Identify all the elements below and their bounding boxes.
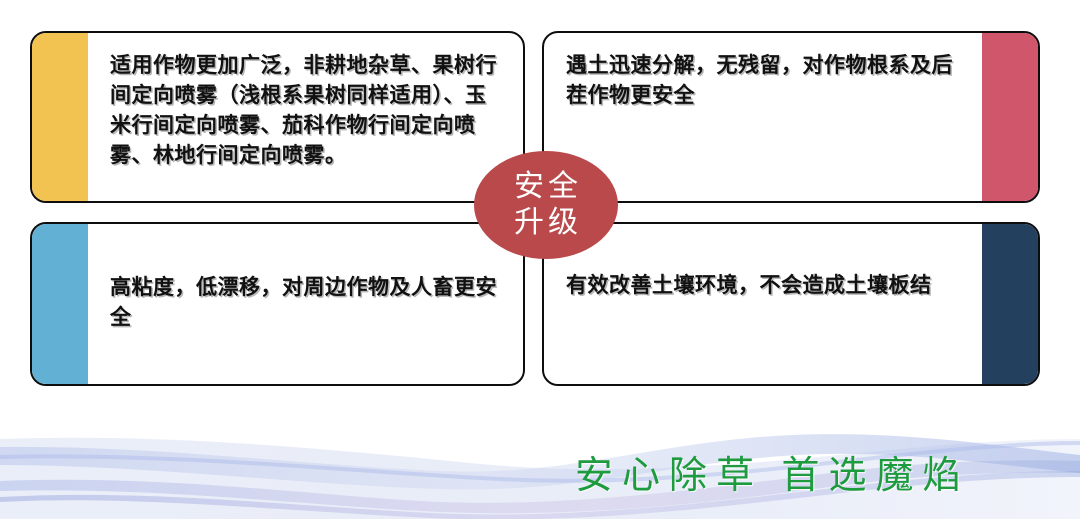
slide-canvas: 适用作物更加广泛，非耕地杂草、果树行间定向喷雾（浅根系果树同样适用）、玉米行间定… <box>0 0 1080 519</box>
card-text-top-left: 适用作物更加广泛，非耕地杂草、果树行间定向喷雾（浅根系果树同样适用）、玉米行间定… <box>88 33 523 170</box>
feature-card-bottom-left[interactable]: 高粘度，低漂移，对周边作物及人畜更安全 <box>30 222 525 386</box>
card-text-bottom-left: 高粘度，低漂移，对周边作物及人畜更安全 <box>88 224 523 332</box>
card-accent-bar-red <box>982 33 1038 201</box>
card-accent-bar-navy <box>982 224 1038 384</box>
card-accent-bar-blue <box>32 224 88 384</box>
card-body: 有效改善土壤环境，不会造成土壤板结 <box>544 224 982 384</box>
card-body: 遇土迅速分解，无残留，对作物根系及后茬作物更安全 <box>544 33 982 201</box>
feature-card-bottom-right[interactable]: 有效改善土壤环境，不会造成土壤板结 <box>542 222 1040 386</box>
feature-card-top-left[interactable]: 适用作物更加广泛，非耕地杂草、果树行间定向喷雾（浅根系果树同样适用）、玉米行间定… <box>30 31 525 203</box>
footer-slogan: 安心除草 首选魔焰 <box>575 452 1055 500</box>
card-text-top-right: 遇土迅速分解，无残留，对作物根系及后茬作物更安全 <box>544 33 982 110</box>
feature-card-top-right[interactable]: 遇土迅速分解，无残留，对作物根系及后茬作物更安全 <box>542 31 1040 203</box>
card-body: 高粘度，低漂移，对周边作物及人畜更安全 <box>88 224 523 384</box>
center-badge[interactable]: 安全 升级 <box>474 151 618 259</box>
card-body: 适用作物更加广泛，非耕地杂草、果树行间定向喷雾（浅根系果树同样适用）、玉米行间定… <box>88 33 523 201</box>
badge-line-1: 安全 <box>510 169 582 205</box>
badge-line-2: 升级 <box>510 205 582 241</box>
card-accent-bar-yellow <box>32 33 88 201</box>
